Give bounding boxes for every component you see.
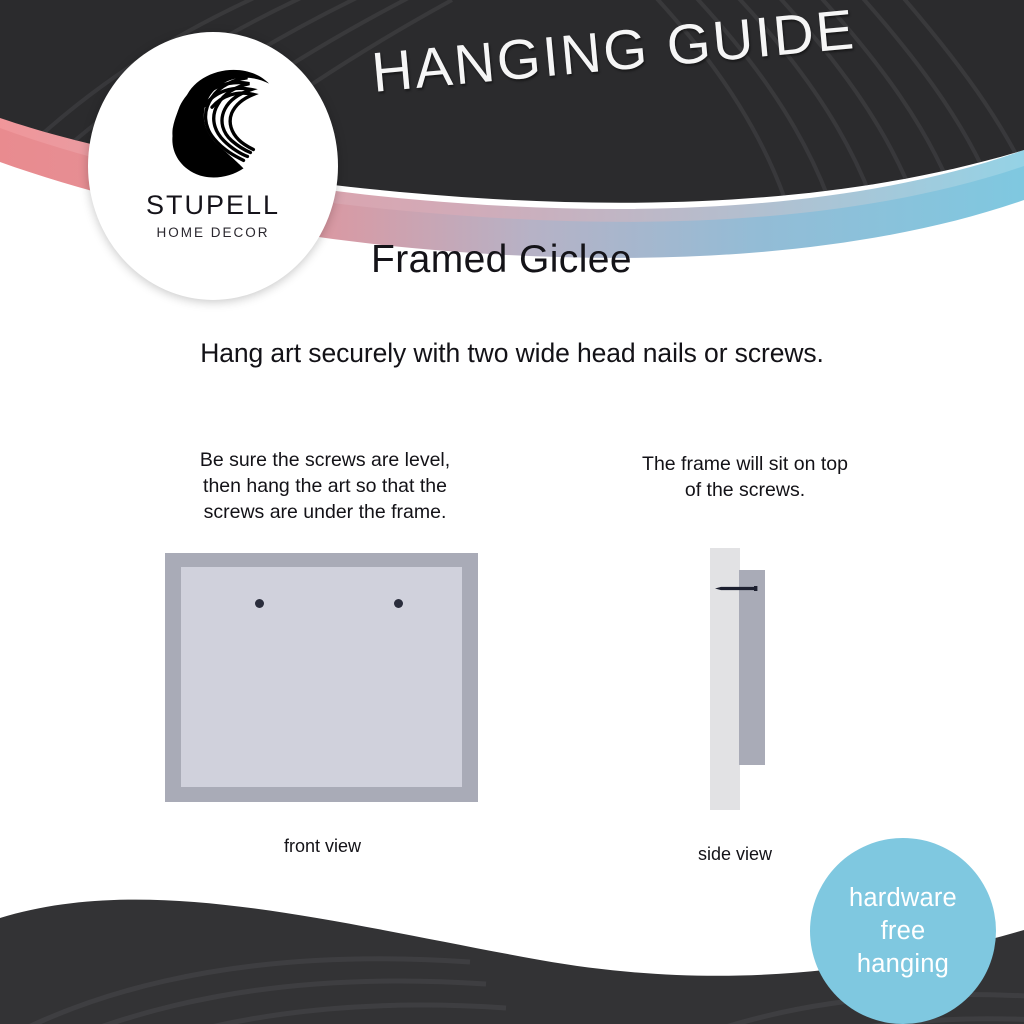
page-title: HANGING GUIDE	[369, 0, 903, 105]
brand-tagline: HOME DECOR	[156, 225, 269, 240]
front-view-frame-diagram	[165, 553, 478, 802]
side-view-caption-line-2: of the screws.	[598, 477, 892, 503]
front-view-frame-mat	[181, 567, 462, 787]
side-view-label: side view	[648, 844, 822, 865]
front-view-caption-line-3: screws are under the frame.	[160, 499, 490, 525]
side-view-caption-line-1: The frame will sit on top	[598, 451, 892, 477]
nail-icon	[715, 586, 761, 591]
product-name: Framed Giclee	[371, 238, 632, 282]
side-view-caption: The frame will sit on top of the screws.	[598, 451, 892, 503]
front-view-label: front view	[200, 836, 445, 857]
badge-line-3: hanging	[857, 948, 949, 981]
brand-name: STUPELL	[146, 190, 280, 221]
badge-line-2: free	[881, 915, 926, 948]
hardware-free-hanging-badge: hardware free hanging	[810, 838, 996, 1024]
brand-logo-badge: STUPELL HOME DECOR	[88, 32, 338, 300]
badge-line-1: hardware	[849, 882, 957, 915]
screw-dot-right-icon	[394, 599, 403, 608]
side-view-diagram	[700, 545, 810, 813]
stupell-swoosh-logo-icon	[149, 58, 277, 184]
hanging-guide-page: STUPELL HOME DECOR HANGING GUIDE Framed …	[0, 0, 1024, 1024]
screw-dot-left-icon	[255, 599, 264, 608]
front-view-caption-line-2: then hang the art so that the	[160, 473, 490, 499]
front-view-caption: Be sure the screws are level, then hang …	[160, 447, 490, 525]
side-view-frame	[739, 570, 765, 765]
front-view-caption-line-1: Be sure the screws are level,	[160, 447, 490, 473]
main-instruction: Hang art securely with two wide head nai…	[0, 338, 1024, 369]
